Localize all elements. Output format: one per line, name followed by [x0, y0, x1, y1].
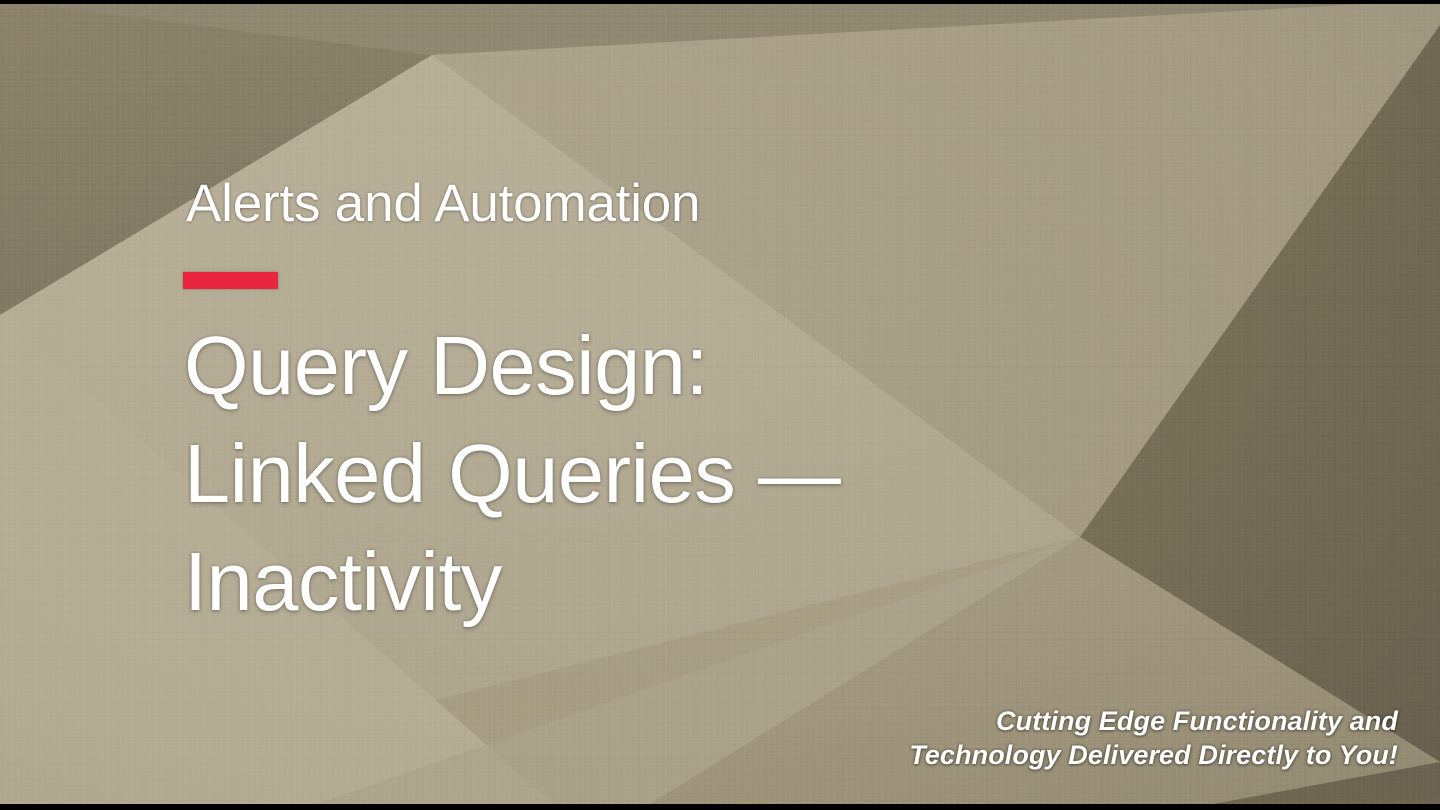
slide-subtitle: Alerts and Automation: [186, 176, 700, 232]
letterbox-top: [0, 0, 1440, 4]
tagline-line-1: Cutting Edge Functionality and: [909, 704, 1398, 738]
brand-tagline: Cutting Edge Functionality and Technolog…: [909, 704, 1398, 772]
title-line-3: Inactivity: [184, 528, 1224, 636]
letterbox-bottom: [0, 804, 1440, 810]
slide-title: Query Design: Linked Queries — Inactivit…: [184, 312, 1224, 636]
title-line-2: Linked Queries —: [184, 420, 1224, 528]
tagline-line-2: Technology Delivered Directly to You!: [909, 738, 1398, 772]
slide-canvas: Alerts and Automation Query Design: Link…: [0, 0, 1440, 810]
title-line-1: Query Design:: [184, 312, 1224, 420]
slide-content: Alerts and Automation Query Design: Link…: [0, 0, 1440, 810]
red-accent-bar: [183, 272, 278, 289]
